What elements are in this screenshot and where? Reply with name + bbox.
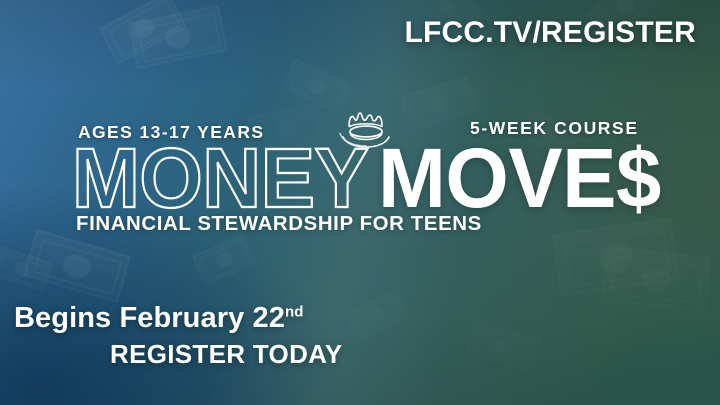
start-date: Begins February 22nd: [14, 302, 304, 335]
tagline: FINANCIAL STEWARDSHIP FOR TEENS: [76, 213, 482, 236]
wordmark: MONEYMOVE$: [72, 140, 669, 217]
money-moves-promo-poster: LFCC.TV/REGISTER AGES 13-17 YEARS 5-WEEK…: [0, 0, 720, 405]
wordmark-money: MONEY: [72, 140, 368, 217]
registration-url[interactable]: LFCC.TV/REGISTER: [404, 16, 696, 50]
call-to-action[interactable]: REGISTER TODAY: [110, 339, 342, 370]
start-date-ordinal: nd: [285, 303, 304, 320]
start-date-text: Begins February 22: [14, 302, 285, 334]
wordmark-moves: MOVE$: [378, 140, 661, 217]
